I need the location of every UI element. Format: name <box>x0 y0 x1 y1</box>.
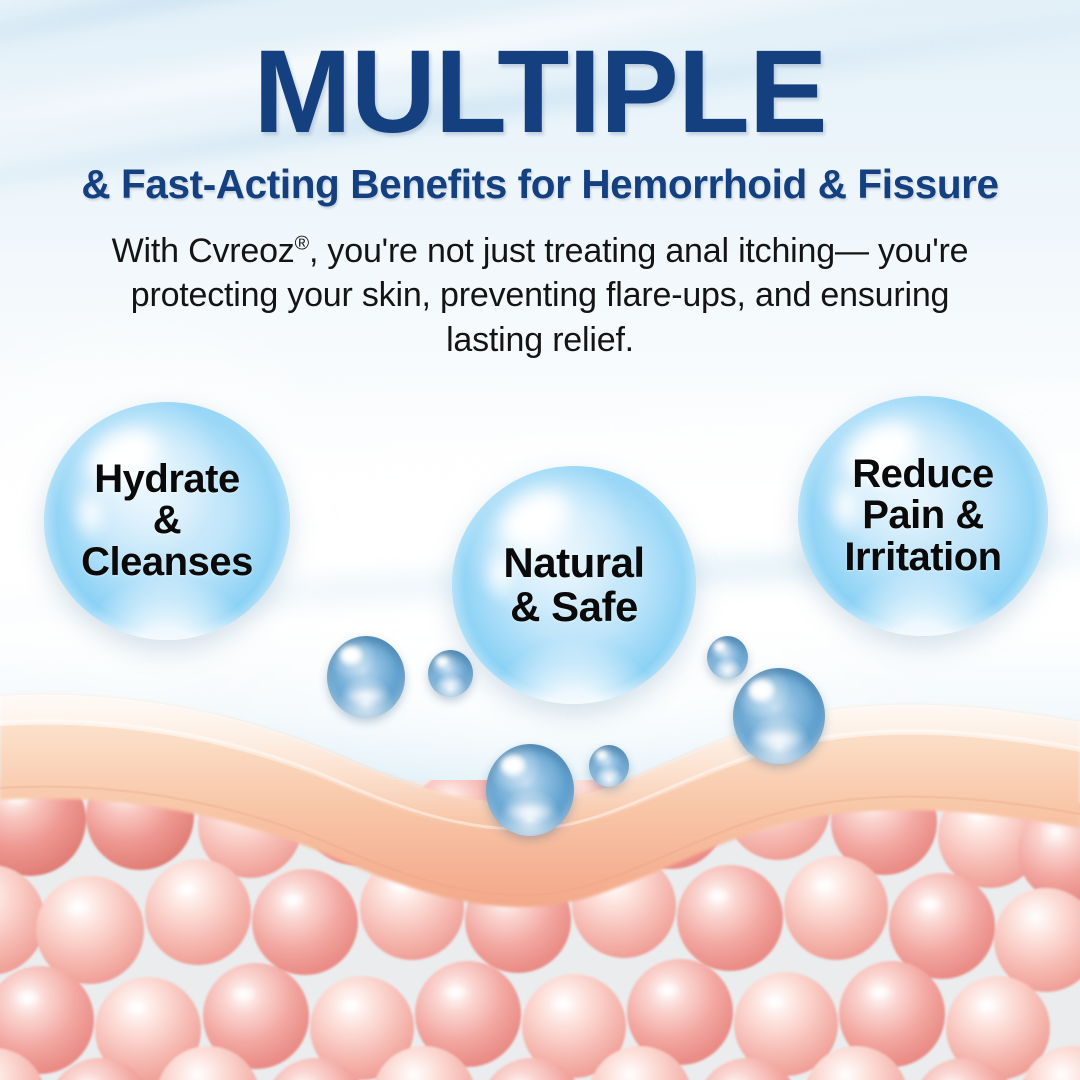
water-droplet <box>707 636 748 679</box>
benefit-line: & Safe <box>503 585 644 629</box>
page-title: MULTIPLE <box>0 0 1080 152</box>
benefit-bubble-reduce[interactable]: Reduce Pain & Irritation <box>798 396 1048 636</box>
benefit-line: & <box>81 500 253 542</box>
product-benefit-poster: Hydrate & Cleanses Natural & Safe Reduce… <box>0 0 1080 1080</box>
registered-trademark-symbol: ® <box>295 233 309 255</box>
benefit-line: Cleanses <box>81 542 253 584</box>
benefit-bubble-label: Hydrate & Cleanses <box>81 459 253 584</box>
benefit-line: Natural <box>503 541 644 585</box>
benefit-bubble-label: Natural & Safe <box>503 541 644 628</box>
headline-block: MULTIPLE & Fast-Acting Benefits for Hemo… <box>0 0 1080 363</box>
body-text-part: With Cvreoz <box>112 232 295 270</box>
benefit-bubble-natural[interactable]: Natural & Safe <box>452 466 696 704</box>
benefit-line: Hydrate <box>81 459 253 501</box>
water-droplet <box>589 745 629 787</box>
water-droplet <box>486 744 574 836</box>
water-droplet <box>327 636 405 718</box>
benefit-bubble-label: Reduce Pain & Irritation <box>844 454 1001 579</box>
page-subtitle: & Fast-Acting Benefits for Hemorrhoid & … <box>0 162 1080 207</box>
benefit-line: Reduce <box>844 454 1001 496</box>
body-paragraph: With Cvreoz®, you're not just treating a… <box>95 229 985 363</box>
water-droplet <box>733 668 825 764</box>
benefit-line: Pain & <box>844 495 1001 537</box>
water-droplet <box>428 650 473 697</box>
skin-surface-wave <box>0 660 1080 1080</box>
benefit-bubble-hydrate[interactable]: Hydrate & Cleanses <box>44 402 290 640</box>
benefit-line: Irritation <box>844 537 1001 579</box>
body-text-part: , you're not just treating anal itching— <box>309 232 869 270</box>
